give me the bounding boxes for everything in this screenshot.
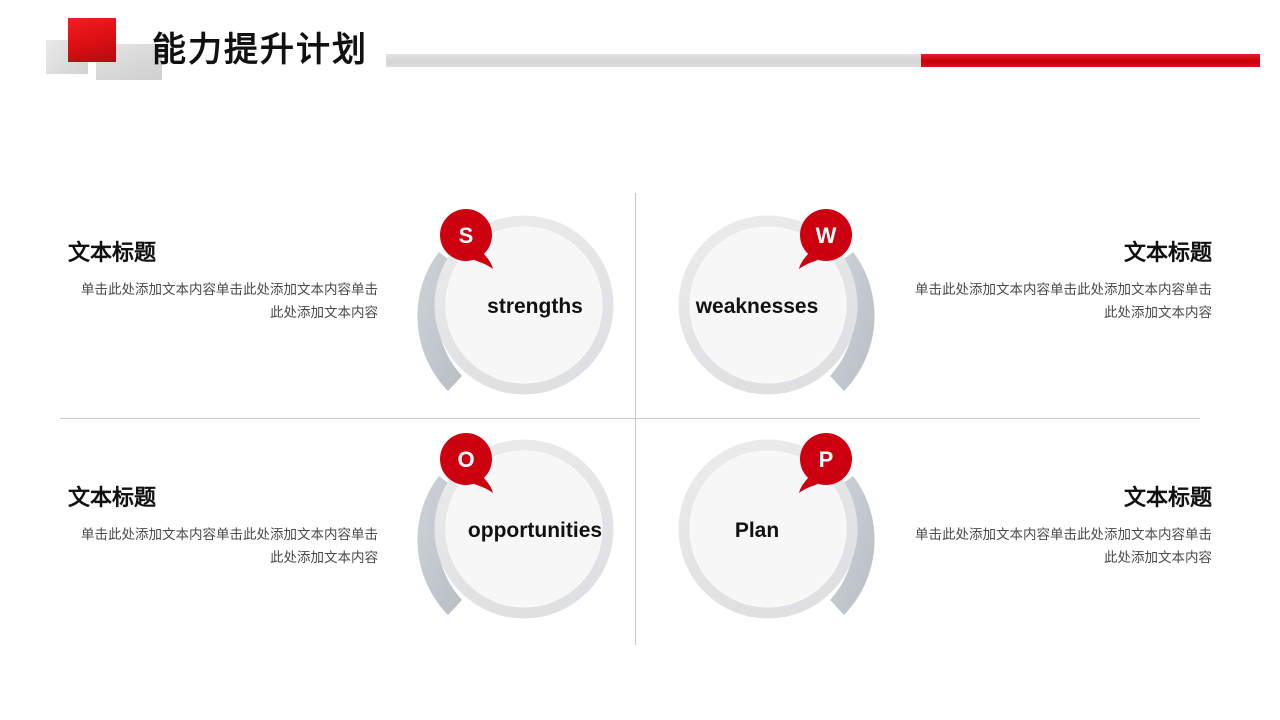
text-block-body: 单击此处添加文本内容单击此处添加文本内容单击此处添加文本内容 [68, 523, 378, 569]
header-rule-gray-segment [386, 54, 921, 67]
text-block-body: 单击此处添加文本内容单击此处添加文本内容单击此处添加文本内容 [902, 278, 1212, 324]
page-title: 能力提升计划 [152, 28, 368, 72]
header-rule-red-segment [921, 54, 1260, 67]
badge-letter-text: P [819, 447, 834, 472]
page-header: 能力提升计划 [0, 0, 1280, 100]
text-block-strengths: 文本标题 单击此处添加文本内容单击此处添加文本内容单击此处添加文本内容 [68, 238, 378, 324]
text-block-plan: 文本标题 单击此处添加文本内容单击此处添加文本内容单击此处添加文本内容 [902, 483, 1212, 569]
text-block-weaknesses: 文本标题 单击此处添加文本内容单击此处添加文本内容单击此处添加文本内容 [902, 238, 1212, 324]
text-block-body: 单击此处添加文本内容单击此处添加文本内容单击此处添加文本内容 [68, 278, 378, 324]
text-block-title: 文本标题 [902, 483, 1212, 513]
header-rule-bar [386, 54, 1260, 67]
text-block-title: 文本标题 [68, 238, 378, 268]
badge-letter-text: O [457, 447, 474, 472]
quadrant-strengths-graphic[interactable]: S strengths [404, 192, 644, 422]
text-block-body: 单击此处添加文本内容单击此处添加文本内容单击此处添加文本内容 [902, 523, 1212, 569]
quadrant-plan-graphic[interactable]: P Plan [648, 416, 888, 646]
logo-square-red [68, 18, 116, 62]
quadrant-opportunities-graphic[interactable]: O opportunities [404, 416, 644, 646]
three-squares-logo [46, 18, 162, 74]
badge-letter-text: S [459, 223, 474, 248]
text-block-opportunities: 文本标题 单击此处添加文本内容单击此处添加文本内容单击此处添加文本内容 [68, 483, 378, 569]
quadrant-weaknesses-graphic[interactable]: W weaknesses [648, 192, 888, 422]
text-block-title: 文本标题 [902, 238, 1212, 268]
badge-letter-text: W [816, 223, 837, 248]
text-block-title: 文本标题 [68, 483, 378, 513]
